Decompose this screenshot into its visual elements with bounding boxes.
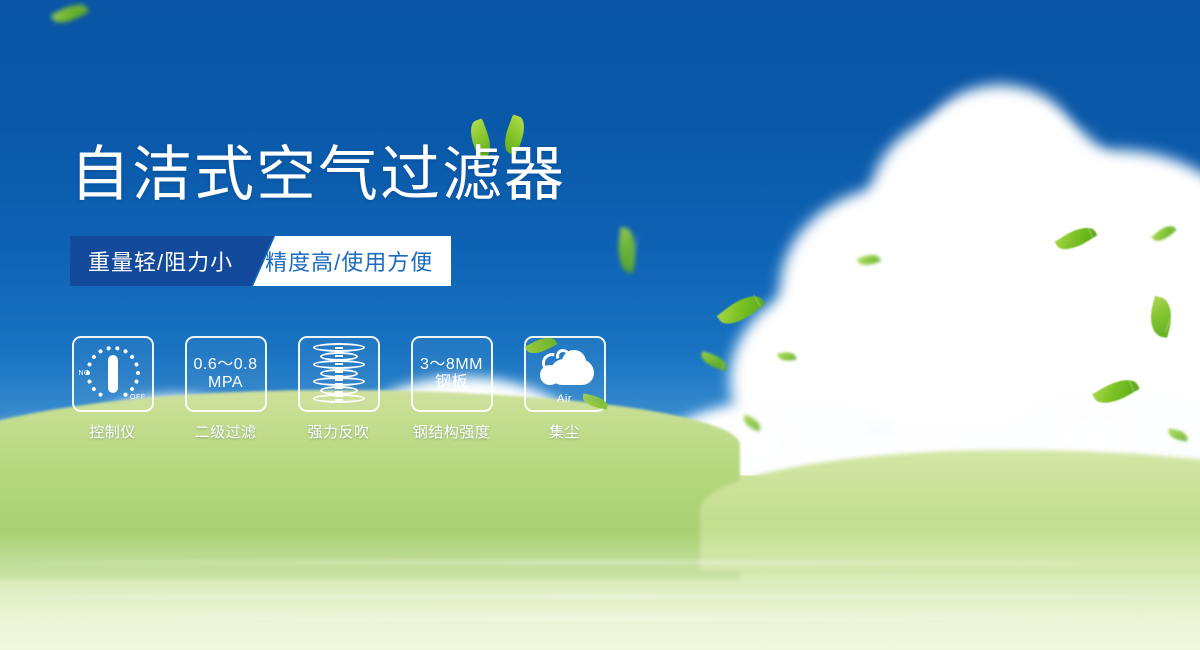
banner-stage: 自洁式空气过滤器 重量轻/阻力小 精度高/使用方便 xyxy=(0,0,1200,650)
field-streak xyxy=(0,561,1200,564)
feature-label: 控制仪 xyxy=(89,421,136,442)
feature-item-blowback[interactable]: 强力反吹 xyxy=(296,336,381,442)
tagline-right: 精度高/使用方便 xyxy=(253,236,451,286)
feature-item-controller[interactable]: NO OFF 控制仪 xyxy=(70,336,155,442)
steel-thickness: 3〜8MM xyxy=(420,356,483,374)
feature-list: NO OFF 控制仪 0.6〜0.8 MPA 二级过滤 xyxy=(70,336,607,442)
tagline-badge: 重量轻/阻力小 精度高/使用方便 xyxy=(70,236,451,286)
field-highlight xyxy=(0,530,1200,650)
tagline-left: 重量轻/阻力小 xyxy=(70,236,273,286)
gauge-label-max: OFF xyxy=(130,394,146,401)
feature-icon-box: 0.6〜0.8 MPA xyxy=(185,336,267,412)
steel-plate-text-icon: 3〜8MM 钢板 xyxy=(420,356,483,392)
coil-filter-icon xyxy=(313,343,365,405)
pressure-unit: MPA xyxy=(194,374,258,392)
feature-label: 二级过滤 xyxy=(194,421,256,442)
feature-icon-box: NO OFF xyxy=(72,336,154,412)
feature-label: 强力反吹 xyxy=(307,421,369,442)
gauge-icon: NO OFF xyxy=(82,344,144,404)
feature-item-pressure[interactable]: 0.6〜0.8 MPA 二级过滤 xyxy=(183,336,268,442)
pressure-text-icon: 0.6〜0.8 MPA xyxy=(194,356,258,392)
air-cloud-icon: Air xyxy=(534,345,596,403)
feature-item-dust[interactable]: Air 集尘 xyxy=(522,336,607,442)
gauge-label-min: NO xyxy=(79,370,91,377)
feature-icon-box: Air xyxy=(524,336,606,412)
feature-icon-box: 3〜8MM 钢板 xyxy=(411,336,493,412)
steel-material: 钢板 xyxy=(420,374,483,392)
feature-label: 集尘 xyxy=(549,421,580,442)
pressure-range: 0.6〜0.8 xyxy=(194,356,258,374)
field-streak xyxy=(0,595,1200,598)
feature-icon-box xyxy=(298,336,380,412)
air-caption: Air xyxy=(534,393,596,405)
feature-item-steel[interactable]: 3〜8MM 钢板 钢结构强度 xyxy=(409,336,494,442)
gauge-needle xyxy=(108,355,118,393)
page-title: 自洁式空气过滤器 xyxy=(70,143,566,206)
field-streak xyxy=(0,617,1200,620)
feature-label: 钢结构强度 xyxy=(413,421,491,442)
